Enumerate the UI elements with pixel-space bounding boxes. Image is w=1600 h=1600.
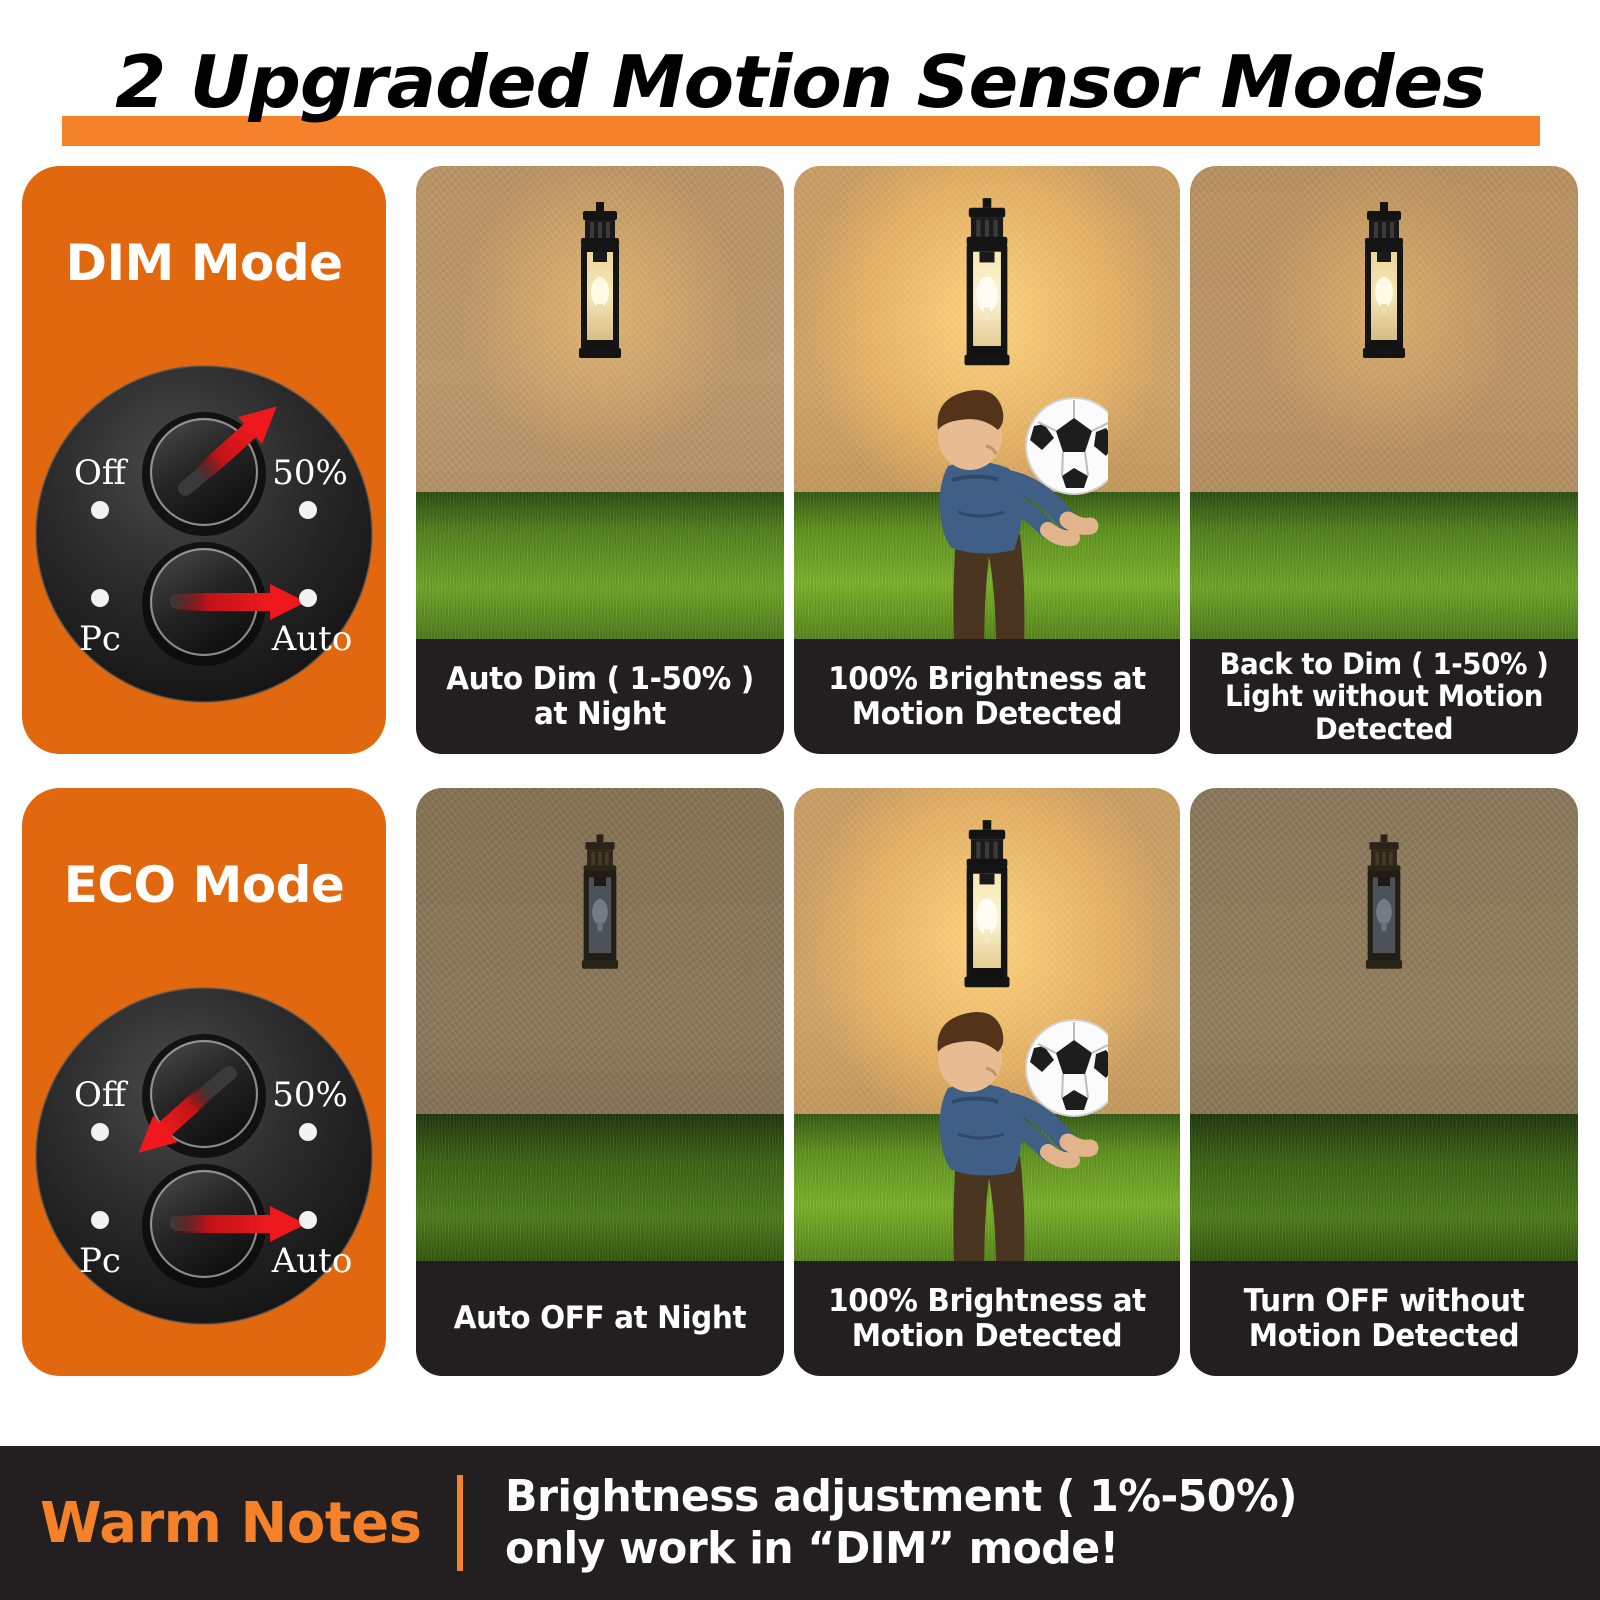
panel-caption: Auto Dim ( 1-50% ) at Night [416,639,784,754]
dial-label-off: Off [74,453,129,493]
boy-with-soccer-ball [878,1006,1108,1261]
caption-text: Back to Dim ( 1-50% ) Light without Moti… [1207,648,1560,745]
dial-label-50: 50% [272,453,348,493]
warm-notes-footer: Warm Notes Brightness adjustment ( 1%-50… [0,1446,1600,1600]
grass-surface [1190,492,1578,639]
caption-text: Auto OFF at Night [454,1301,746,1336]
panel-caption: 100% Brightness at Motion Detected [794,639,1180,754]
dial-control-eco[interactable]: Off 50% Pc Auto [34,984,374,1328]
caption-text: Auto Dim ( 1-50% ) at Night [433,662,767,731]
mode-title-eco: ECO Mode [22,856,386,914]
warm-notes-line-2: only work in “DIM” mode! [505,1523,1297,1575]
scene-panel-eco-2: 100% Brightness at Motion Detected [794,788,1180,1376]
modes-grid: DIM Mode [22,166,1578,1376]
scene-panel-dim-3: Back to Dim ( 1-50% ) Light without Moti… [1190,166,1578,754]
mode-card-eco: ECO Mode [22,788,386,1376]
dial-control-dim[interactable]: Off 50% Pc Auto [34,362,374,706]
mode-row-eco: ECO Mode [22,788,1578,1376]
scene-panel-dim-1: Auto Dim ( 1-50% ) at Night [416,166,784,754]
page-title: 2 Upgraded Motion Sensor Modes [0,40,1600,124]
panel-caption: 100% Brightness at Motion Detected [794,1261,1180,1376]
dial-label-off: Off [74,1075,129,1115]
scene-image-dim-2 [794,166,1180,639]
dial-label-pc: Pc [79,1241,121,1281]
footer-divider [457,1475,463,1571]
boy-with-soccer-ball [878,384,1108,639]
warm-notes-text: Brightness adjustment ( 1%-50%) only wor… [505,1471,1297,1575]
wall-lamp-icon [1353,832,1415,978]
dial-label-auto: Auto [271,619,353,659]
scene-image-eco-2 [794,788,1180,1261]
indicator-dot-pc [91,1211,109,1229]
dial-label-pc: Pc [79,619,121,659]
grass-surface [416,492,784,639]
wall-lamp-icon [564,200,636,368]
indicator-dot-auto [299,1211,317,1229]
scene-image-eco-1 [416,788,784,1261]
wall-lamp-icon [948,818,1026,998]
caption-text: 100% Brightness at Motion Detected [811,662,1163,731]
warm-notes-line-1: Brightness adjustment ( 1%-50%) [505,1471,1297,1523]
panel-caption: Back to Dim ( 1-50% ) Light without Moti… [1190,639,1578,754]
indicator-dot-auto [299,589,317,607]
wall-lamp-icon [948,196,1026,376]
panel-caption: Auto OFF at Night [416,1261,784,1376]
warm-notes-label: Warm Notes [40,1491,421,1556]
grass-surface [1190,1114,1578,1261]
panel-caption: Turn OFF without Motion Detected [1190,1261,1578,1376]
page-header: 2 Upgraded Motion Sensor Modes [0,26,1600,144]
dial-label-auto: Auto [271,1241,353,1281]
indicator-dot-off [91,1123,109,1141]
caption-text: Turn OFF without Motion Detected [1207,1284,1560,1353]
scene-panel-dim-2: 100% Brightness at Motion Detected [794,166,1180,754]
dial-label-50: 50% [272,1075,348,1115]
grass-surface [416,1114,784,1261]
mode-card-dim: DIM Mode [22,166,386,754]
indicator-dot-50 [299,501,317,519]
scene-image-eco-3 [1190,788,1578,1261]
scene-panel-eco-1: Auto OFF at Night [416,788,784,1376]
indicator-dot-pc [91,589,109,607]
wall-lamp-icon [1348,200,1420,368]
wall-lamp-icon [569,832,631,978]
mode-row-dim: DIM Mode [22,166,1578,754]
scene-image-dim-1 [416,166,784,639]
indicator-dot-off [91,501,109,519]
infographic-page: 2 Upgraded Motion Sensor Modes DIM Mode [0,0,1600,1600]
caption-text: 100% Brightness at Motion Detected [811,1284,1163,1353]
mode-title-dim: DIM Mode [22,234,386,292]
scene-image-dim-3 [1190,166,1578,639]
scene-panel-eco-3: Turn OFF without Motion Detected [1190,788,1578,1376]
indicator-dot-50 [299,1123,317,1141]
